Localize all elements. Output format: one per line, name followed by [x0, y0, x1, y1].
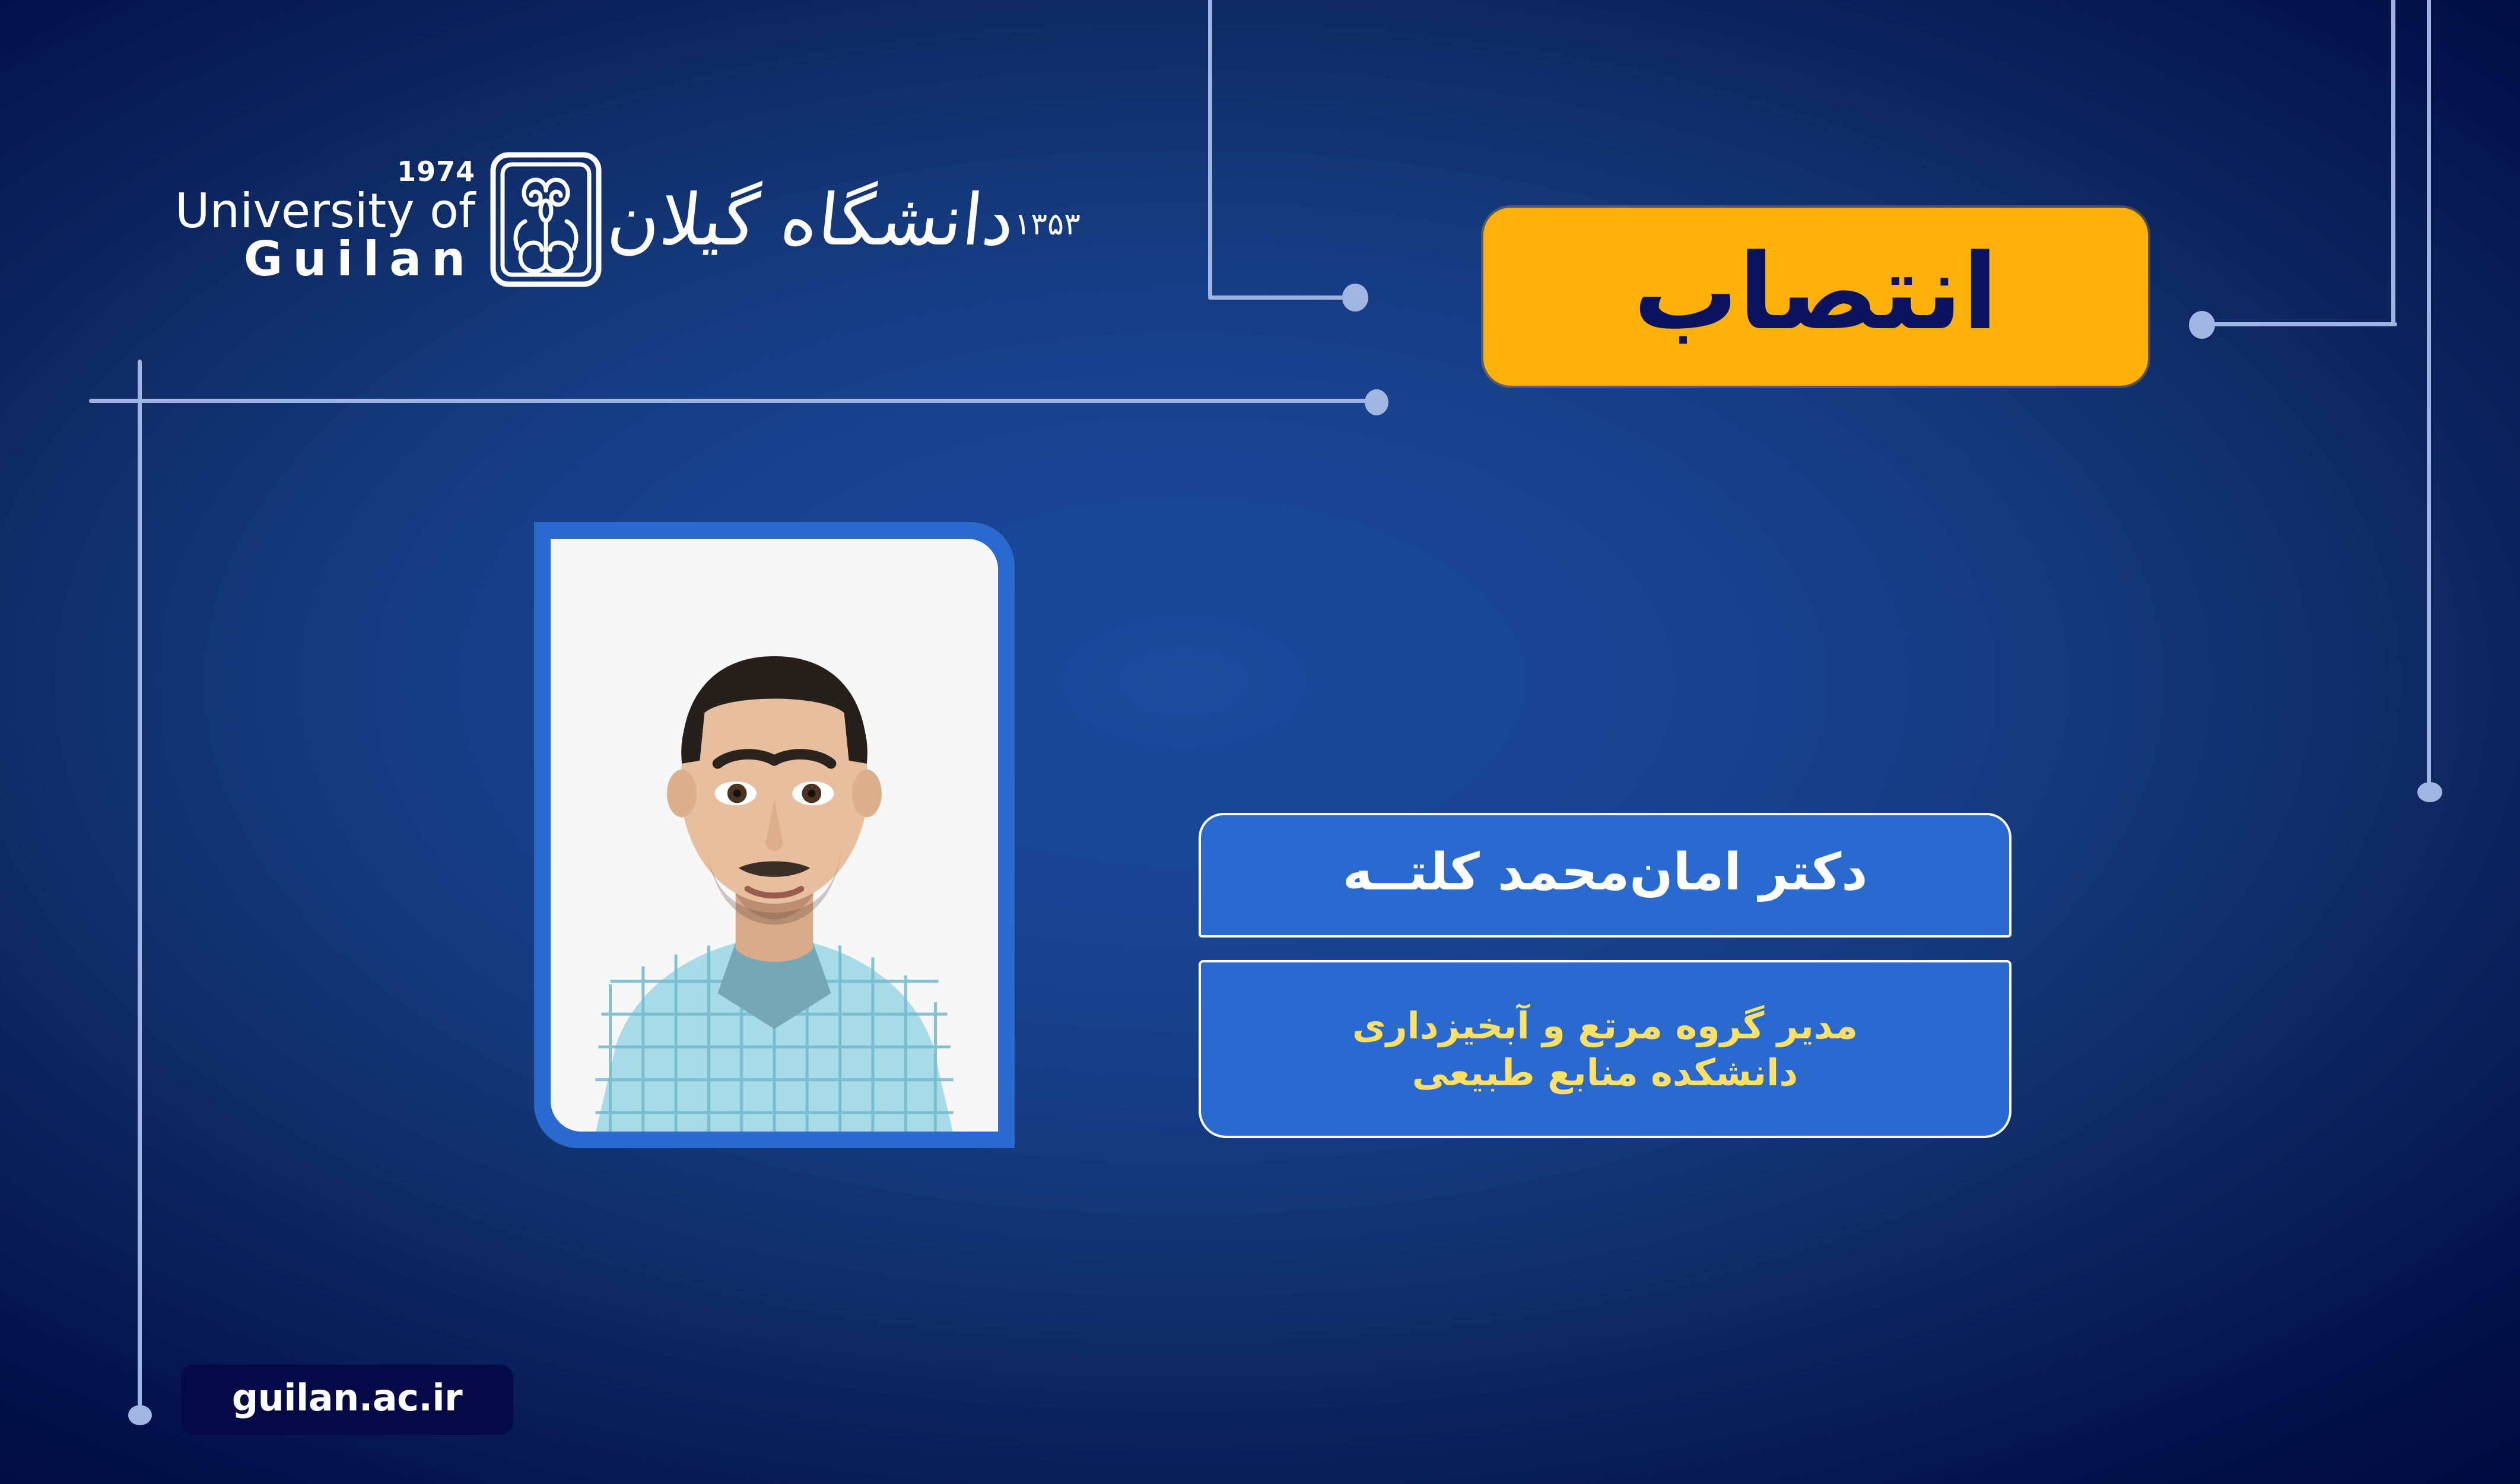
- portrait-frame: [534, 522, 1015, 1148]
- person-role-line-2: دانشکده منابع طبیعی: [1412, 1049, 1798, 1096]
- person-name-badge: دکتر امان‌محمد کلتــه: [1199, 813, 2011, 938]
- decor-dot-far-right: [2417, 782, 2442, 802]
- decor-vertical-line-left: [138, 360, 142, 1415]
- decor-dot-bottom-left: [128, 1405, 152, 1425]
- university-logo: 1974 University of Guilan ۱۳۵۳ دانشگاه گ…: [175, 151, 1086, 290]
- logo-founding-year-en: 1974: [175, 158, 475, 186]
- portrait-photo: [551, 539, 998, 1132]
- logo-university-name-fa: دانشگاه گیلان: [605, 185, 1018, 256]
- person-role-line-1: مدیر گروه مرتع و آبخیزداری: [1352, 1002, 1858, 1049]
- decor-vertical-line-top-center: [1208, 0, 1212, 298]
- person-name: دکتر امان‌محمد کلتــه: [1343, 847, 1868, 904]
- logo-english-text: 1974 University of Guilan: [175, 158, 475, 284]
- guilan-emblem-icon: [490, 151, 602, 290]
- portrait-illustration: [551, 539, 998, 1132]
- decor-horizontal-line-under-logo: [89, 399, 1378, 403]
- logo-university-of-label: University of: [175, 187, 475, 236]
- decor-vertical-line-right-long: [2427, 0, 2431, 788]
- website-pill[interactable]: guilan.ac.ir: [181, 1365, 513, 1435]
- decor-horizontal-line-top-center: [1208, 295, 1350, 300]
- person-role-badge: مدیر گروه مرتع و آبخیزداری دانشکده منابع…: [1199, 960, 2011, 1138]
- announcement-poster: 1974 University of Guilan ۱۳۵۳ دانشگاه گ…: [0, 0, 2520, 1484]
- decor-dot-top-center: [1342, 284, 1368, 312]
- headline-badge: انتصاب: [1483, 208, 2148, 386]
- decor-dot-under-logo: [1365, 389, 1388, 415]
- logo-founding-year-fa: ۱۳۵۳: [1014, 209, 1081, 240]
- website-label: guilan.ac.ir: [232, 1380, 463, 1420]
- decor-vertical-line-right-short: [2391, 0, 2395, 324]
- logo-persian-text: ۱۳۵۳ دانشگاه گیلان: [608, 185, 1086, 256]
- headline-label: انتصاب: [1634, 240, 1998, 353]
- logo-guilan-label: Guilan: [175, 235, 475, 284]
- decor-horizontal-line-right-of-headline: [2210, 322, 2397, 326]
